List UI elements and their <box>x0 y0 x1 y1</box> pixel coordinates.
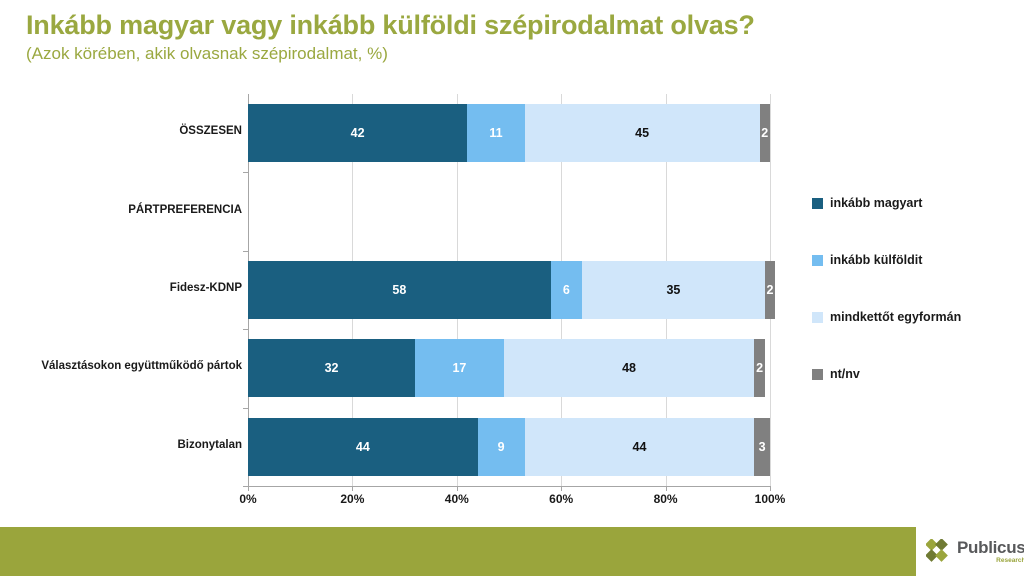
bar-segment: 42 <box>248 104 467 162</box>
x-tick-mark <box>561 486 562 491</box>
stacked-bar-chart: ÖSSZESENPÁRTPREFERENCIAFidesz-KDNPVálasz… <box>0 86 800 506</box>
bar-segment: 45 <box>525 104 760 162</box>
publicus-logo: Publicus Research <box>926 532 1018 572</box>
legend-item[interactable]: inkább külföldit <box>812 253 922 267</box>
legend-label: mindkettőt egyformán <box>830 310 961 324</box>
bar-segment: 44 <box>525 418 755 476</box>
logo-wordmark: Publicus Research <box>957 539 1024 565</box>
page-title: Inkább magyar vagy inkább külföldi szépi… <box>26 10 755 41</box>
bar-row: 449443 <box>248 418 770 476</box>
bar-segment: 2 <box>754 339 764 397</box>
bar-row: 4211452 <box>248 104 770 162</box>
x-tick-mark <box>666 486 667 491</box>
category-label: Választásokon együttműködő pártok <box>0 360 242 372</box>
bar-segment: 17 <box>415 339 504 397</box>
x-tick-label: 100% <box>755 492 786 506</box>
x-tick-label: 80% <box>654 492 678 506</box>
bar-segment: 6 <box>551 261 582 319</box>
x-tick-mark <box>770 486 771 491</box>
logo-subtitle: Research <box>957 558 1024 565</box>
footer-band <box>0 527 916 576</box>
legend-label: inkább külföldit <box>830 253 922 267</box>
legend-label: nt/nv <box>830 367 860 381</box>
bar-segment: 48 <box>504 339 755 397</box>
diamonds-icon <box>926 539 952 565</box>
category-label: Fidesz-KDNP <box>0 282 242 294</box>
x-tick-mark <box>352 486 353 491</box>
x-tick-label: 40% <box>445 492 469 506</box>
legend-item[interactable]: inkább magyart <box>812 196 922 210</box>
legend-item[interactable]: nt/nv <box>812 367 860 381</box>
bar-segment: 32 <box>248 339 415 397</box>
category-label: PÁRTPREFERENCIA <box>0 204 242 216</box>
x-tick-label: 60% <box>549 492 573 506</box>
bar-segment: 2 <box>760 104 770 162</box>
bar-segment: 2 <box>765 261 775 319</box>
bar-segment: 9 <box>478 418 525 476</box>
bar-segment: 44 <box>248 418 478 476</box>
x-axis-labels: 0%20%40%60%80%100% <box>0 492 800 512</box>
bar-segment: 58 <box>248 261 551 319</box>
category-label: Bizonytalan <box>0 439 242 451</box>
logo-name: Publicus <box>957 539 1024 556</box>
legend-label: inkább magyart <box>830 196 922 210</box>
x-tick-mark <box>457 486 458 491</box>
category-axis: ÖSSZESENPÁRTPREFERENCIAFidesz-KDNPVálasz… <box>0 86 242 486</box>
legend-item[interactable]: mindkettőt egyformán <box>812 310 961 324</box>
x-tick-label: 0% <box>239 492 256 506</box>
bar-segment: 3 <box>754 418 770 476</box>
y-tick-mark <box>243 486 248 487</box>
category-label: ÖSSZESEN <box>0 125 242 137</box>
x-tick-mark <box>248 486 249 491</box>
bar-segment: 11 <box>467 104 524 162</box>
x-tick-label: 20% <box>340 492 364 506</box>
legend-swatch-icon <box>812 198 823 209</box>
plot-area: 42114525863523217482449443 <box>248 94 770 486</box>
legend-swatch-icon <box>812 312 823 323</box>
slide-canvas: Inkább magyar vagy inkább külföldi szépi… <box>0 0 1024 576</box>
page-subtitle: (Azok körében, akik olvasnak szépirodalm… <box>26 44 388 64</box>
bar-row: 586352 <box>248 261 770 319</box>
legend-swatch-icon <box>812 255 823 266</box>
legend-swatch-icon <box>812 369 823 380</box>
x-axis-line <box>248 486 771 487</box>
bar-row: 3217482 <box>248 339 770 397</box>
bar-segment: 35 <box>582 261 765 319</box>
